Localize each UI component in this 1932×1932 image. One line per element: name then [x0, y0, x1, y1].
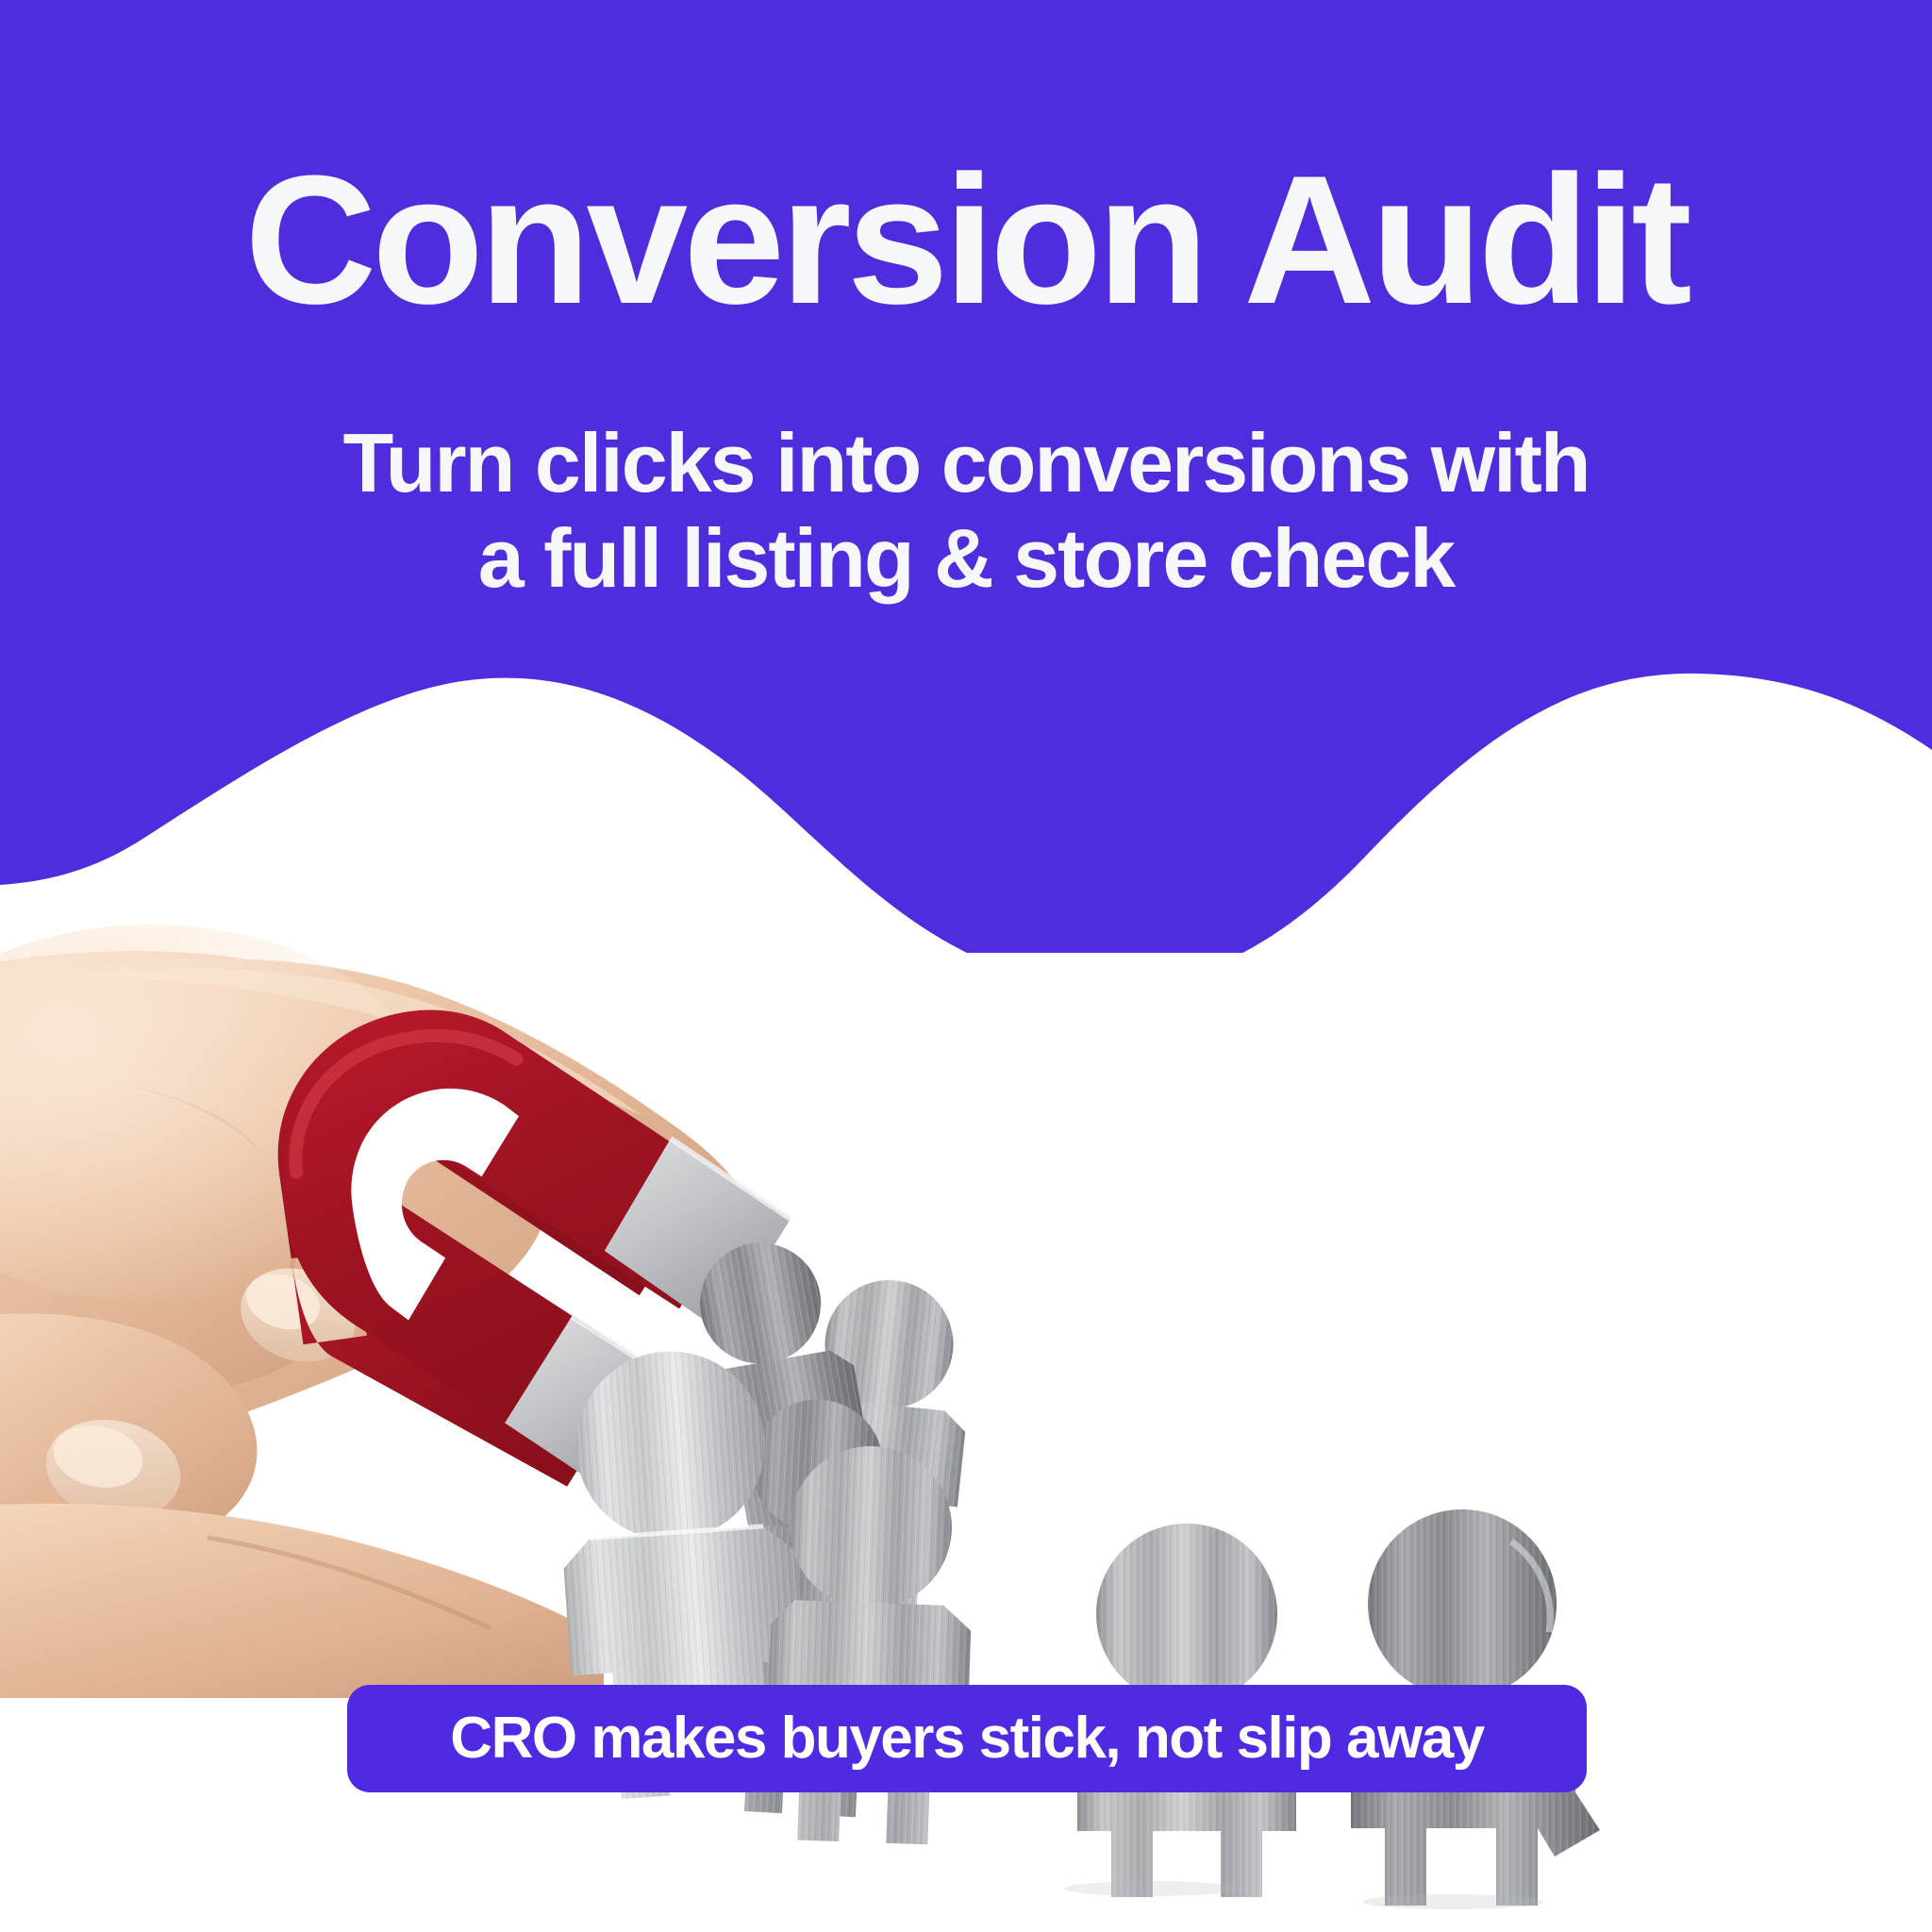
hand-lower-knuckles — [0, 1504, 604, 1698]
figurine-head-grain — [1096, 1524, 1277, 1705]
figurine-foot-shadow-left — [1064, 1881, 1238, 1896]
caption-badge: CRO makes buyers stick, not slip away — [347, 1685, 1587, 1792]
caption-badge-text: CRO makes buyers stick, not slip away — [450, 1709, 1483, 1768]
figurine-foot-shadow-right — [1362, 1894, 1543, 1909]
figurine-head-grain — [1368, 1509, 1557, 1698]
magnet-and-people-photo — [0, 0, 1932, 1932]
marketing-poster: Conversion Audit Turn clicks into conver… — [0, 0, 1932, 1932]
